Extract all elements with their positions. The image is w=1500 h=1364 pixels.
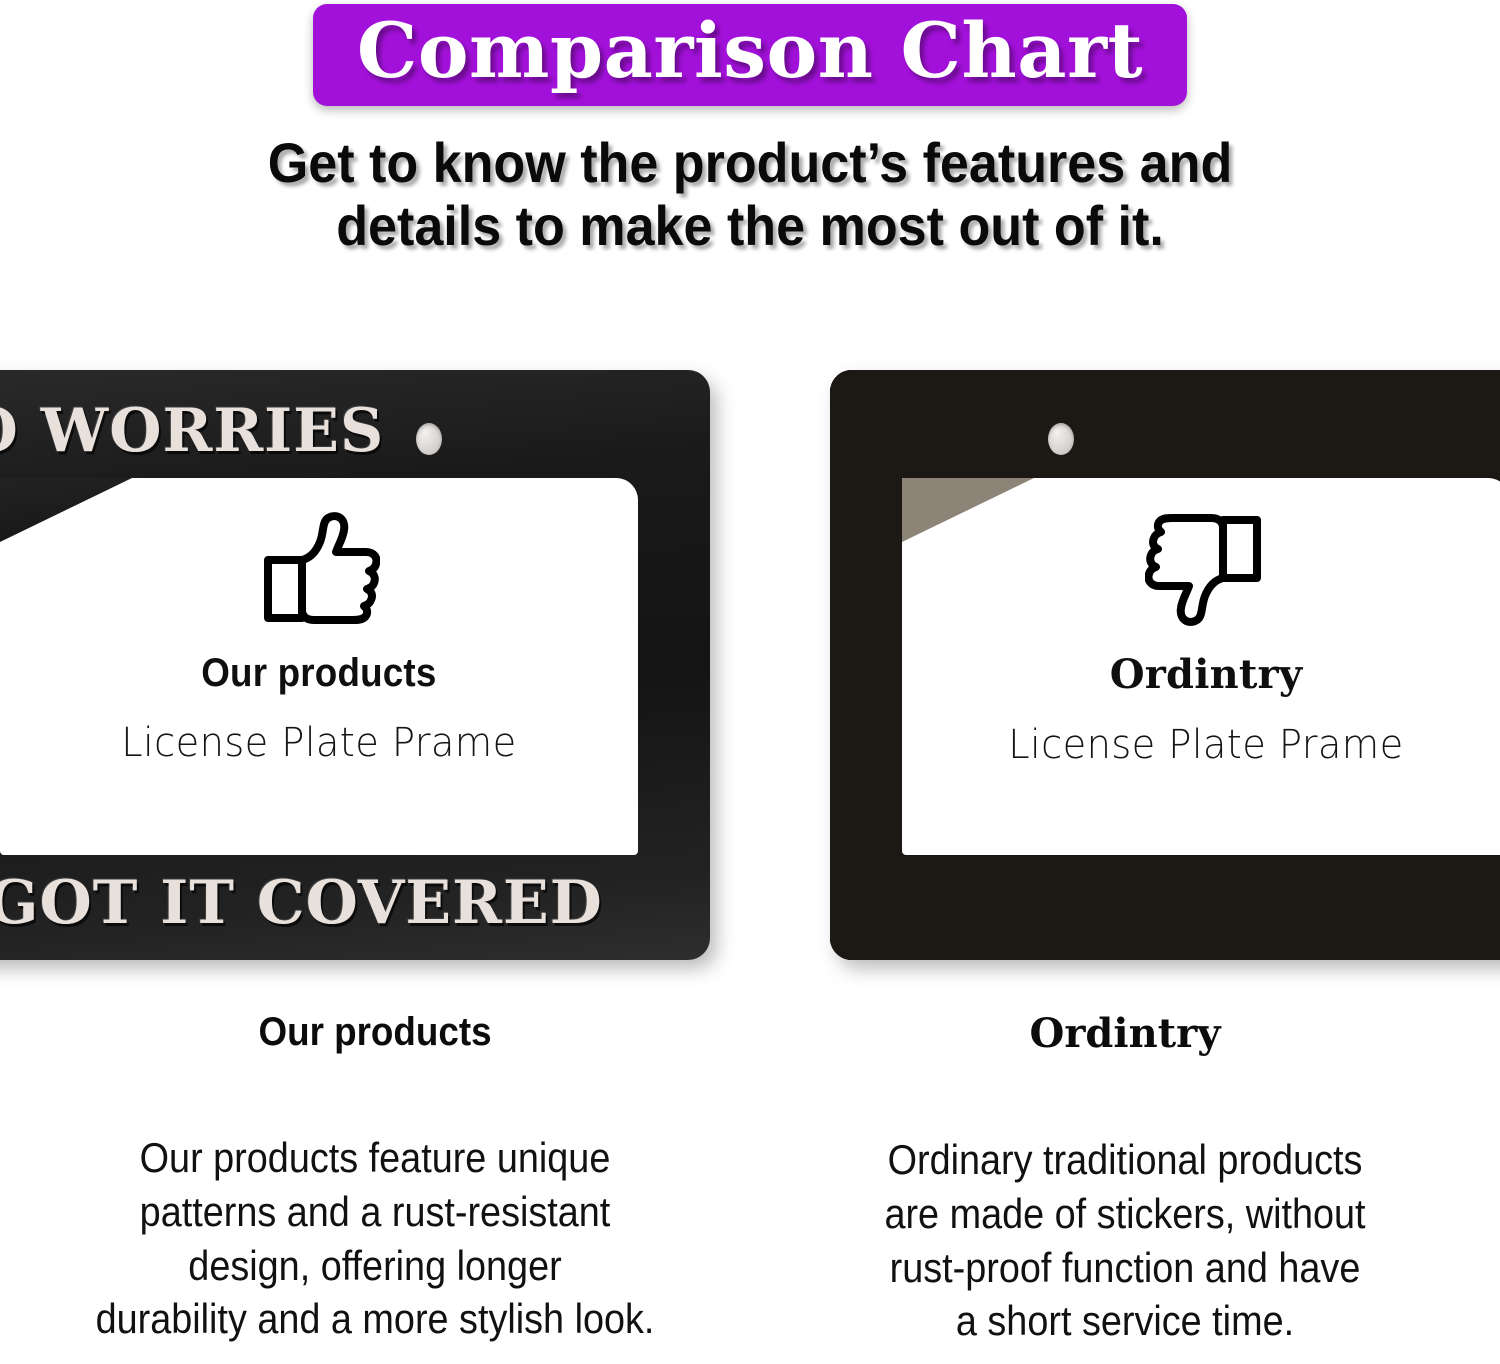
title-banner: Comparison Chart: [313, 4, 1187, 106]
thumbs-down-icon: [1145, 510, 1267, 633]
comparison-descriptions: Our products Our products feature unique…: [0, 1010, 1500, 1348]
description-left-line-2: patterns and a rust-resistant: [38, 1185, 713, 1239]
description-right-line-4: a short service time.: [788, 1294, 1463, 1348]
description-column-ordintry: Ordintry Ordinary traditional products a…: [750, 1010, 1500, 1348]
plate-slogan-bottom: GOT IT COVERED: [0, 868, 710, 938]
window-subheading-right: License Plate Prame: [1008, 722, 1403, 768]
description-left-line-1: Our products feature unique: [38, 1131, 713, 1185]
description-right-line-2: are made of stickers, without: [788, 1187, 1463, 1241]
product-image-our-product: O WORRIES GOT IT COVERED Our products Li…: [0, 370, 710, 960]
window-heading-right: Ordintry: [1110, 651, 1303, 698]
plate-slogan-top: O WORRIES: [0, 396, 710, 466]
product-image-ordinary-product: Ordintry License Plate Prame: [830, 370, 1500, 960]
title-section: Comparison Chart: [0, 0, 1500, 106]
description-heading-right: Ordintry: [750, 1010, 1500, 1057]
description-body-left: Our products feature unique patterns and…: [38, 1131, 713, 1346]
subtitle: Get to know the product’s features and d…: [53, 132, 1448, 257]
window-heading-left: Our products: [201, 651, 436, 696]
subtitle-line-1: Get to know the product’s features and: [136, 132, 1364, 195]
description-body-right: Ordinary traditional products are made o…: [788, 1133, 1463, 1348]
product-comparison-images: O WORRIES GOT IT COVERED Our products Li…: [0, 370, 1500, 970]
description-column-our-products: Our products Our products feature unique…: [0, 1010, 750, 1348]
description-left-line-3: design, offering longer: [38, 1239, 713, 1293]
description-heading-left: Our products: [30, 1010, 720, 1055]
mounting-hole-icon: [1048, 423, 1074, 455]
page-title: Comparison Chart: [357, 10, 1143, 92]
plate-window-right: Ordintry License Plate Prame: [902, 478, 1500, 855]
description-left-line-4: durability and a more stylish look.: [38, 1292, 713, 1346]
window-subheading-left: License Plate Prame: [121, 720, 516, 766]
description-right-line-1: Ordinary traditional products: [788, 1133, 1463, 1187]
plate-window-left: Our products License Plate Prame: [0, 478, 638, 855]
subtitle-line-2: details to make the most out of it.: [136, 195, 1364, 258]
description-right-line-3: rust-proof function and have: [788, 1241, 1463, 1295]
thumbs-up-icon: [258, 510, 380, 633]
